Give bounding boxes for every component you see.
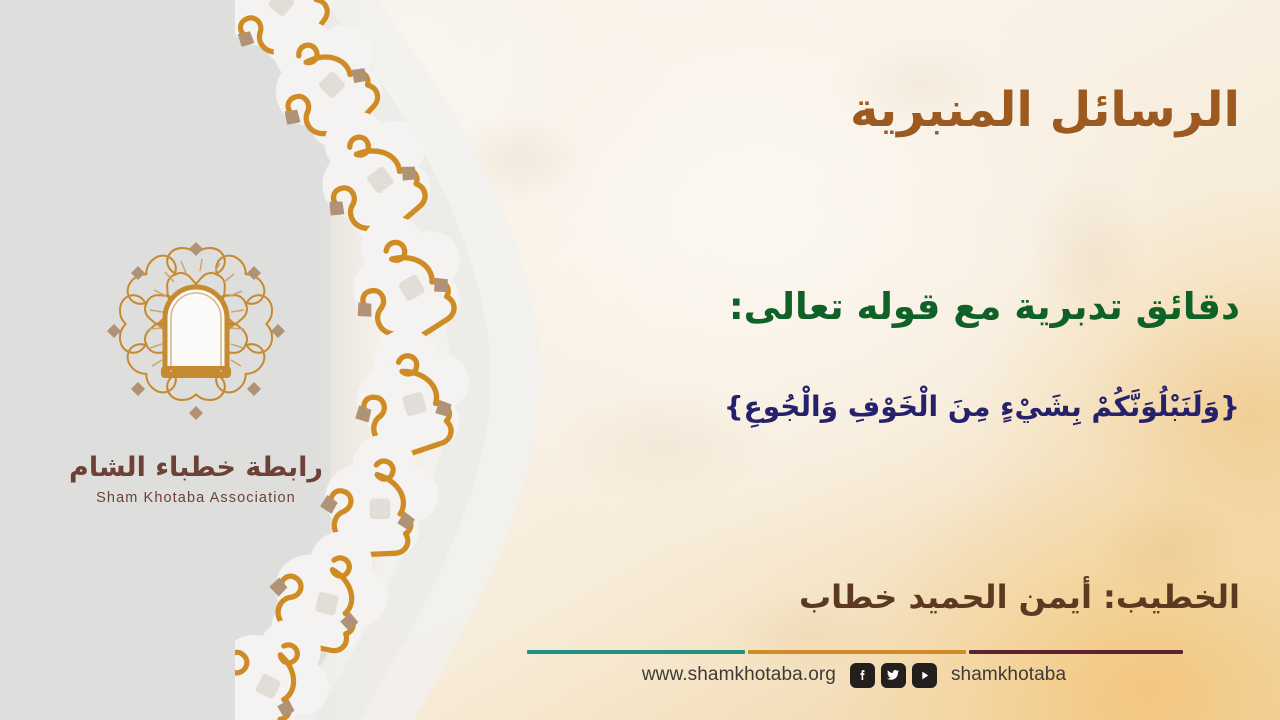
social-handle[interactable]: shamkhotaba — [951, 664, 1066, 686]
youtube-icon[interactable] — [912, 663, 937, 688]
rule-orange — [748, 650, 966, 654]
mihrab-star-emblem-icon — [66, 212, 326, 442]
logo-english-name: Sham Khotaba Association — [66, 490, 326, 506]
rule-teal — [527, 650, 745, 654]
slide-title: الرسائل المنبرية — [850, 82, 1240, 138]
facebook-icon[interactable] — [850, 663, 875, 688]
logo-arabic-name: رابطة خطباء الشام — [66, 452, 326, 483]
slide-canvas: رابطة خطباء الشام Sham Khotaba Associati… — [0, 0, 1280, 720]
footer-divider-rules — [525, 650, 1183, 654]
social-icons-group — [850, 663, 937, 688]
slide-subject: دقائق تدبرية مع قوله تعالى: — [729, 285, 1240, 328]
quran-verse-text: {وَلَنَبْلُوَنَّكُمْ بِشَيْءٍ مِنَ الْخَ… — [724, 390, 1240, 423]
footer-bar: www.shamkhotaba.org shamkhotaba — [525, 658, 1183, 692]
rule-maroon — [969, 650, 1183, 654]
speaker-name-line: الخطيب: أيمن الحميد خطاب — [799, 578, 1240, 616]
slide-content: الرسائل المنبرية دقائق تدبرية مع قوله تع… — [520, 0, 1260, 720]
twitter-icon[interactable] — [881, 663, 906, 688]
website-url[interactable]: www.shamkhotaba.org — [642, 664, 836, 686]
logo-block: رابطة خطباء الشام Sham Khotaba Associati… — [66, 212, 326, 506]
